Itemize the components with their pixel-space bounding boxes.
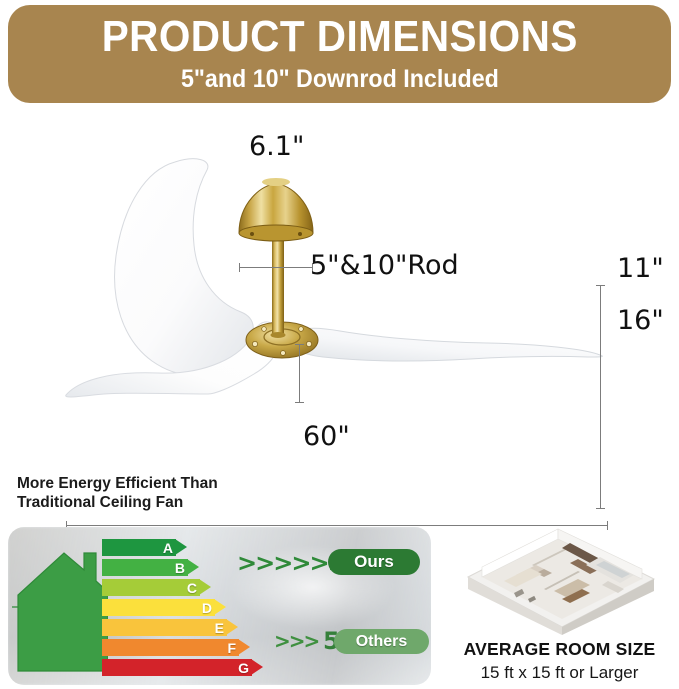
fan-height-tick-top: [596, 285, 605, 286]
energy-heading: More Energy Efficient Than Traditional C…: [17, 474, 317, 512]
blade-span-label: 60": [303, 421, 350, 452]
energy-bar-g: G: [102, 659, 263, 676]
downrod-tick-top: [295, 344, 304, 345]
fan-height-line: [600, 285, 601, 509]
fan-blade-upper-left: [115, 159, 254, 375]
height-max-label: 16": [617, 305, 664, 336]
downrod: [272, 231, 284, 335]
room-size-title: AVERAGE ROOM SIZE: [440, 639, 679, 660]
energy-efficiency-panel: A B C D E: [8, 527, 431, 685]
height-min-label: 11": [617, 253, 664, 284]
header-banner: PRODUCT DIMENSIONS 5"and 10" Downrod Inc…: [8, 5, 671, 103]
others-badge: Others: [334, 629, 429, 654]
energy-bar-label: D: [202, 600, 212, 616]
canopy-width-label: 6.1": [249, 131, 304, 162]
downrod-length-label: 5"&10"Rod: [310, 250, 459, 281]
room-size-section: AVERAGE ROOM SIZE 15 ft x 15 ft or Large…: [440, 515, 679, 689]
ceiling-fan-graphic: [0, 104, 679, 464]
canopy-top: [262, 178, 290, 186]
energy-rating-bars: A B C D E: [102, 539, 292, 679]
canopy-screw: [250, 232, 254, 236]
hub-screw: [262, 327, 267, 332]
house-icon: [12, 545, 108, 677]
energy-bar-label: F: [227, 640, 236, 656]
energy-bar-a: A: [102, 539, 187, 556]
banner-title: PRODUCT DIMENSIONS: [101, 14, 577, 60]
hub-screw: [252, 341, 257, 346]
energy-bar-b: B: [102, 559, 199, 576]
room-size-subtitle: 15 ft x 15 ft or Larger: [440, 663, 679, 683]
canopy-width-line: [239, 267, 313, 268]
fan-blade-right: [291, 328, 603, 361]
energy-bar-label: A: [163, 540, 173, 556]
energy-bar-label: C: [187, 580, 197, 596]
energy-bar-label: G: [238, 660, 249, 676]
downrod-tick-bottom: [295, 402, 304, 403]
canopy-screw: [298, 232, 302, 236]
energy-heading-line2: Traditional Ceiling Fan: [17, 493, 317, 512]
energy-bar-f: F: [102, 639, 250, 656]
banner-subtitle: 5"and 10" Downrod Included: [181, 64, 499, 94]
energy-bar-c: C: [102, 579, 211, 596]
hub-screw: [299, 327, 304, 332]
downrod-length-line: [299, 344, 300, 403]
canopy-rim: [239, 225, 313, 241]
energy-heading-line1: More Energy Efficient Than: [17, 474, 317, 493]
energy-bar-d: D: [102, 599, 226, 616]
downrod-base: [271, 332, 286, 338]
product-dimensions-infographic: PRODUCT DIMENSIONS 5"and 10" Downrod Inc…: [0, 0, 679, 689]
ours-badge: Ours: [328, 549, 420, 575]
energy-bar-label: B: [175, 560, 185, 576]
hub-screw: [281, 351, 286, 356]
others-chevrons: >>>: [274, 629, 318, 653]
hub-screw: [306, 341, 311, 346]
canopy-width-tick-left: [239, 263, 240, 272]
fan-height-tick-bottom: [596, 508, 605, 509]
fan-illustration: [0, 104, 679, 464]
energy-bar-e: E: [102, 619, 238, 636]
isometric-floorplan-icon: [458, 515, 662, 635]
energy-bar-label: E: [215, 620, 224, 636]
